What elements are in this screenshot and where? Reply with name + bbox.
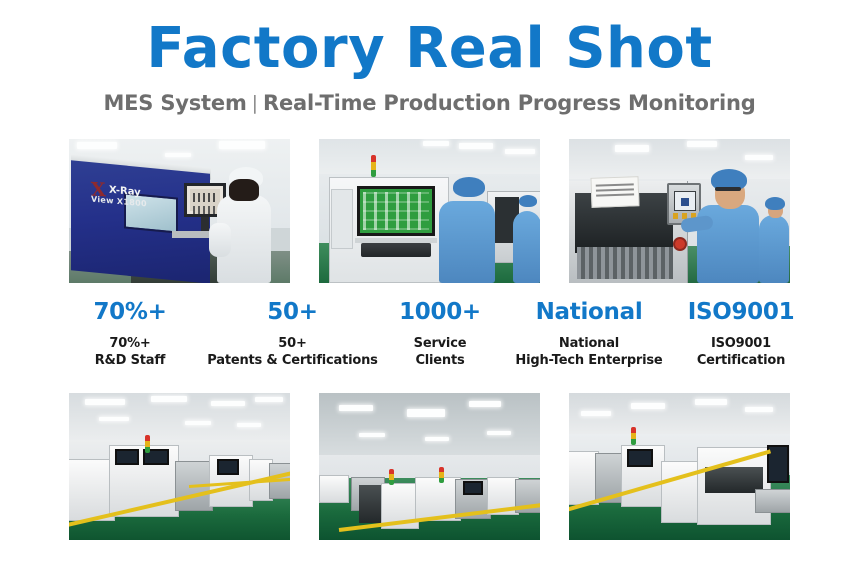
stat-label: 70%+ R&D Staff xyxy=(62,335,198,369)
photo-row-bottom xyxy=(69,393,790,540)
ceiling-lamp-icon xyxy=(359,433,385,437)
ceiling-lamp-icon xyxy=(77,142,117,149)
ceiling-lamp-icon xyxy=(407,409,445,417)
ceiling-lamp-icon xyxy=(459,143,493,149)
photo-production-line-monitors xyxy=(569,393,790,540)
worker-body xyxy=(759,215,789,283)
stat-label-line1: Service xyxy=(387,335,493,352)
machine-unit xyxy=(755,489,790,513)
aoi-monitor xyxy=(357,186,435,236)
worker-cap-icon xyxy=(519,195,537,207)
keyboard-icon[interactable] xyxy=(361,243,431,257)
ceiling-lamp-icon xyxy=(695,399,727,405)
photo-row-top: X X-Ray View X1800 xyxy=(69,139,790,283)
ceiling-lamp-icon xyxy=(185,421,211,425)
monitor-image xyxy=(190,189,220,211)
page-title: Factory Real Shot xyxy=(0,18,859,80)
hmi-screen xyxy=(674,191,696,211)
ceiling-lamp-icon xyxy=(745,407,773,412)
header: Factory Real Shot MES System | Real-Time… xyxy=(0,18,859,116)
stats-row: 70%+ 70%+ R&D Staff 50+ 50+ Patents & Ce… xyxy=(60,298,799,369)
photo-aoi-inspection xyxy=(319,139,540,283)
ceiling-lamp-icon xyxy=(487,431,511,435)
ceiling-lamp-icon xyxy=(469,401,501,407)
machine-monitor xyxy=(463,481,483,495)
ceiling-lamp-icon xyxy=(423,141,449,146)
worker-body xyxy=(513,211,540,283)
stat-value: 1000+ xyxy=(387,298,493,326)
worker-cap-icon xyxy=(453,177,485,197)
component-feeders xyxy=(577,247,673,279)
process-sheet xyxy=(590,176,639,208)
monitor-stand xyxy=(201,217,209,231)
stat-label: 50+ Patents & Certifications xyxy=(202,335,383,369)
ceiling-lamp-icon xyxy=(425,437,449,441)
stat-label-line2: R&D Staff xyxy=(62,352,198,369)
subtitle-left: MES System xyxy=(103,90,246,116)
ceiling-lamp-icon xyxy=(631,403,665,409)
worker-body xyxy=(439,201,495,283)
photo-smt-line-overview xyxy=(69,393,290,540)
stat-label-line1: 70%+ xyxy=(62,335,198,352)
machine-monitor xyxy=(217,459,239,475)
stat-label-line2: High-Tech Enterprise xyxy=(497,352,681,369)
stat-value: ISO9001 xyxy=(685,298,797,326)
photo-factory-floor-wide xyxy=(319,393,540,540)
ceiling-lamp-icon xyxy=(615,145,649,152)
tower-light-icon xyxy=(389,469,394,485)
ceiling-lamp-icon xyxy=(165,153,191,157)
ceiling-lamp-icon xyxy=(339,405,373,411)
stat-item-iso9001: ISO9001 ISO9001 Certification xyxy=(683,298,799,369)
ceiling-lamp-icon xyxy=(211,401,245,406)
ceiling xyxy=(319,393,540,458)
factory-real-shot-page: Factory Real Shot MES System | Real-Time… xyxy=(0,0,859,573)
subtitle-right: Real-Time Production Progress Monitoring xyxy=(263,90,756,116)
tower-light-icon xyxy=(145,435,150,453)
ceiling-lamp-icon xyxy=(581,411,611,416)
stat-item-service-clients: 1000+ Service Clients xyxy=(385,298,495,369)
ceiling-lamp-icon xyxy=(85,399,125,405)
stat-label-line2: Clients xyxy=(387,352,493,369)
photo-xray-inspection: X X-Ray View X1800 xyxy=(69,139,290,283)
photo-smt-pick-and-place xyxy=(569,139,790,283)
ceiling-lamp-icon xyxy=(151,396,187,402)
stat-item-patents: 50+ 50+ Patents & Certifications xyxy=(200,298,385,369)
stat-label-line2: Certification xyxy=(685,352,797,369)
ceiling-lamp-icon xyxy=(219,141,265,149)
ceiling-lamp-icon xyxy=(255,397,283,402)
stat-label-line1: National xyxy=(497,335,681,352)
machine-side-panel xyxy=(331,189,353,249)
stat-item-high-tech-enterprise: National National High-Tech Enterprise xyxy=(495,298,683,369)
machine-monitor xyxy=(115,449,139,465)
stat-value: National xyxy=(497,298,681,326)
emergency-stop-icon[interactable] xyxy=(673,237,687,251)
subtitle-separator-icon: | xyxy=(247,92,263,114)
ceiling-lamp-icon xyxy=(687,141,717,147)
subtitle: MES System | Real-Time Production Progre… xyxy=(0,90,859,116)
worker-arm xyxy=(209,223,231,257)
worker-hair xyxy=(229,179,259,201)
aoi-screen-content xyxy=(363,192,429,230)
tower-light-icon xyxy=(439,467,444,483)
worker-cap-icon xyxy=(765,197,785,210)
stat-label-line2: Patents & Certifications xyxy=(202,352,383,369)
stat-label: ISO9001 Certification xyxy=(685,335,797,369)
ceiling-lamp-icon xyxy=(505,149,535,154)
stat-label: Service Clients xyxy=(387,335,493,369)
machine-unit xyxy=(319,475,349,503)
tower-light-icon xyxy=(631,427,636,445)
stat-value: 70%+ xyxy=(62,298,198,326)
stat-label: National High-Tech Enterprise xyxy=(497,335,681,369)
ceiling xyxy=(569,139,790,182)
worker-glasses-icon xyxy=(715,187,741,191)
stat-label-line1: ISO9001 xyxy=(685,335,797,352)
ceiling-lamp-icon xyxy=(745,155,773,160)
machine-monitor xyxy=(627,449,653,467)
stat-item-rd-staff: 70%+ 70%+ R&D Staff xyxy=(60,298,200,369)
ceiling-lamp-icon xyxy=(99,417,129,421)
stat-value: 50+ xyxy=(202,298,383,326)
ceiling-lamp-icon xyxy=(237,423,261,427)
tower-light-icon xyxy=(371,155,376,177)
stat-label-line1: 50+ xyxy=(202,335,383,352)
